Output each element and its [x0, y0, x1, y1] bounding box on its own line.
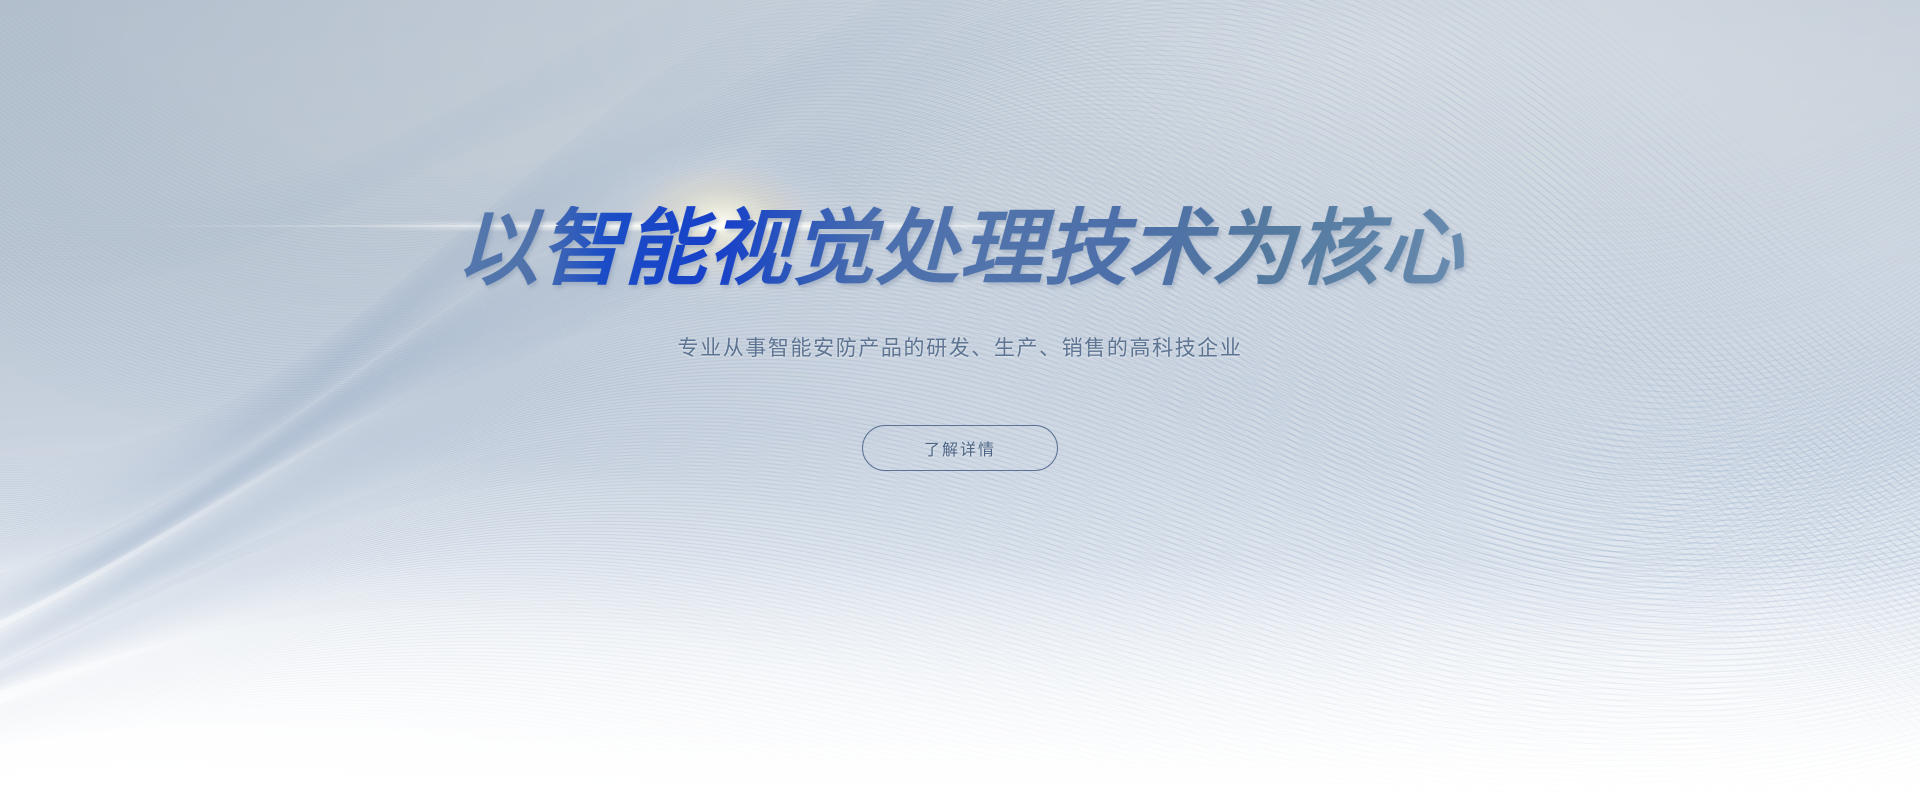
learn-more-button[interactable]: 了解详情	[862, 425, 1058, 471]
hero-subtitle: 专业从事智能安防产品的研发、生产、销售的高科技企业	[678, 332, 1243, 362]
hero-banner: 以智能视觉处理技术为核心 专业从事智能安防产品的研发、生产、销售的高科技企业 了…	[0, 0, 1920, 800]
hero-headline: 以智能视觉处理技术为核心	[455, 206, 1465, 292]
hero-content: 以智能视觉处理技术为核心 专业从事智能安防产品的研发、生产、销售的高科技企业 了…	[0, 0, 1920, 800]
